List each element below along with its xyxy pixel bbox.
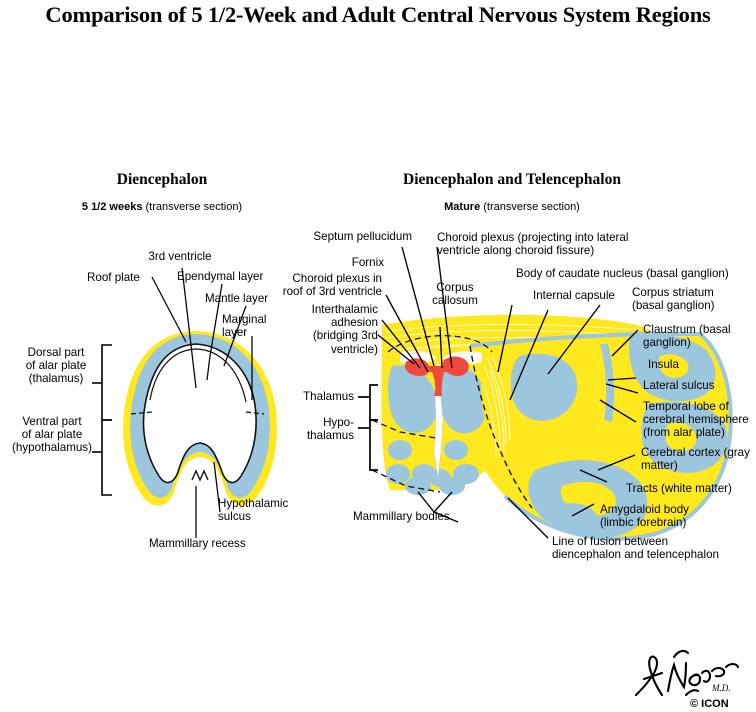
label-temporal-lobe: Temporal lobe of cerebral hemisphere (fr… — [643, 400, 756, 440]
label-3rd-ventricle: 3rd ventricle — [115, 250, 245, 263]
embryonic-diencephalon-drawing — [123, 331, 277, 506]
signature-credential: M.D. — [711, 683, 731, 693]
label-mammillary-recess: Mammillary recess — [149, 537, 299, 550]
label-interthalamic-adhesion: Interthalamic adhesion (bridging 3rd ven… — [284, 303, 378, 356]
label-line-of-fusion: Line of fusion between diencephalon and … — [552, 535, 756, 561]
label-dorsal-alar-plate: Dorsal part of alar plate (thalamus) — [10, 346, 102, 386]
label-corpus-striatum: Corpus striatum (basal ganglion) — [632, 286, 756, 312]
label-amygdaloid-body: Amygdaloid body (limbic forebrain) — [600, 503, 756, 529]
label-corpus-callosum: Corpus callosum — [420, 281, 490, 307]
label-tracts: Tracts (white matter) — [626, 482, 756, 495]
label-choroid-plexus-lateral: Choroid plexus (projecting into lateral … — [437, 231, 747, 257]
mammillary-recess-notch — [192, 471, 208, 480]
netter-signature: M.D. © ICON — [628, 643, 756, 711]
label-roof-plate: Roof plate — [87, 271, 187, 284]
label-internal-capsule: Internal capsule — [533, 289, 633, 302]
anatomical-illustration — [0, 0, 756, 712]
right-brackets — [358, 385, 378, 470]
label-mammillary-bodies: Mammillary bodies — [353, 510, 493, 523]
signature-copyright: © ICON — [690, 698, 729, 710]
label-thalamus: Thalamus — [288, 390, 354, 403]
label-ventral-alar-plate: Ventral part of alar plate (hypothalamus… — [2, 415, 102, 455]
label-insula: Insula — [648, 358, 748, 371]
label-fornix: Fornix — [288, 256, 384, 269]
label-hypothalamic-sulcus: Hypothalamic sulcus — [218, 497, 318, 523]
label-claustrum: Claustrum (basal ganglion) — [643, 323, 756, 349]
label-cerebral-cortex: Cerebral cortex (gray matter) — [641, 446, 756, 472]
label-septum-pellucidum: Septum pellucidum — [278, 230, 412, 243]
label-lateral-sulcus: Lateral sulcus — [643, 379, 755, 392]
label-body-caudate-nucleus: Body of caudate nucleus (basal ganglion) — [516, 267, 756, 280]
label-choroid-plexus-roof: Choroid plexus in roof of 3rd ventricle — [270, 272, 382, 298]
label-hypothalamus: Hypo- thalamus — [288, 416, 354, 442]
